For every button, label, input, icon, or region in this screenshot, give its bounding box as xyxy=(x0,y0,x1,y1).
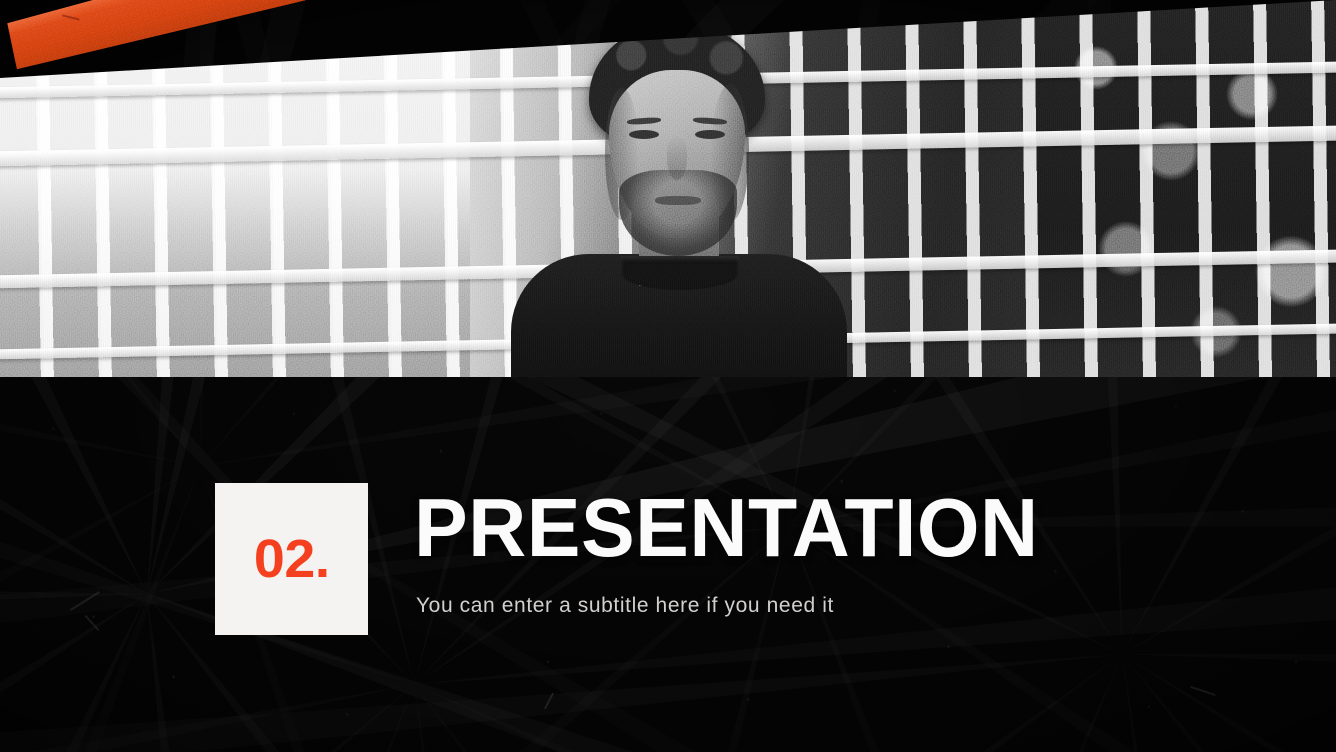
slide-title: PRESENTATION xyxy=(414,488,1039,568)
presentation-slide: 02. PRESENTATION You can enter a subtitl… xyxy=(0,0,1336,752)
slide-subtitle: You can enter a subtitle here if you nee… xyxy=(416,594,1058,618)
section-number-text: 02. xyxy=(254,532,330,586)
headline-block: PRESENTATION You can enter a subtitle he… xyxy=(414,488,1058,618)
section-number-badge: 02. xyxy=(215,483,368,635)
